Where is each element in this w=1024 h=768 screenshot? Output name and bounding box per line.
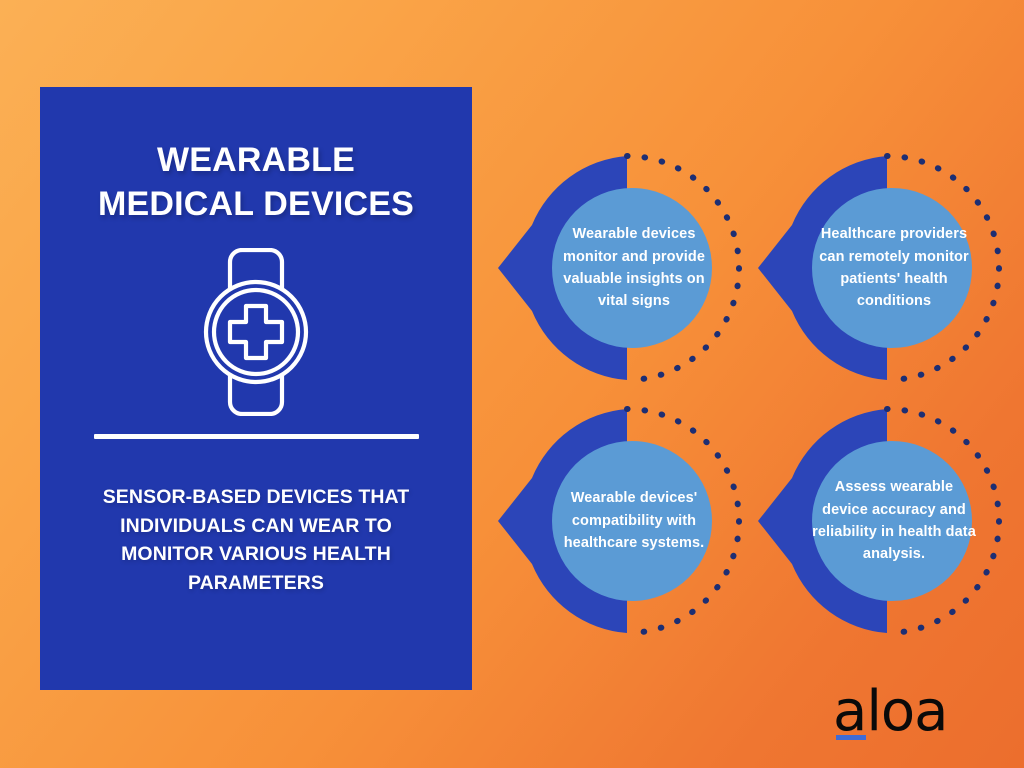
bubble-text: Healthcare providers can remotely monito… bbox=[812, 157, 976, 379]
title-line-2: MEDICAL DEVICES bbox=[56, 183, 456, 227]
bubble-text: Wearable devices monitor and provide val… bbox=[552, 157, 716, 379]
logo-underline bbox=[836, 735, 866, 740]
panel-subtitle: SENSOR-BASED DEVICES THAT INDIVIDUALS CA… bbox=[72, 483, 440, 598]
subtitle-line-4: PARAMETERS bbox=[72, 569, 440, 598]
logo-wordmark: aloa bbox=[833, 684, 953, 740]
bubble-text: Wearable devices' compatibility with hea… bbox=[552, 410, 716, 632]
bubble-text: Assess wearable device accuracy and reli… bbox=[812, 410, 976, 632]
smartwatch-medical-cross-icon bbox=[189, 248, 323, 416]
callout-bubble[interactable]: Healthcare providers can remotely monito… bbox=[750, 143, 1010, 393]
infographic-canvas: WEARABLE MEDICAL DEVICES SENSOR-BASED DE… bbox=[0, 0, 1024, 768]
subtitle-line-3: MONITOR VARIOUS HEALTH bbox=[72, 540, 440, 569]
callout-bubble[interactable]: Wearable devices monitor and provide val… bbox=[490, 143, 750, 393]
panel-divider bbox=[94, 434, 419, 439]
aloa-logo[interactable]: aloa bbox=[833, 684, 953, 744]
left-title-panel: WEARABLE MEDICAL DEVICES SENSOR-BASED DE… bbox=[40, 87, 472, 690]
subtitle-line-2: INDIVIDUALS CAN WEAR TO bbox=[72, 512, 440, 541]
title-line-1: WEARABLE bbox=[56, 139, 456, 183]
callout-bubble[interactable]: Wearable devices' compatibility with hea… bbox=[490, 396, 750, 646]
subtitle-line-1: SENSOR-BASED DEVICES THAT bbox=[72, 483, 440, 512]
page-title: WEARABLE MEDICAL DEVICES bbox=[56, 139, 456, 226]
callout-bubble[interactable]: Assess wearable device accuracy and reli… bbox=[750, 396, 1010, 646]
